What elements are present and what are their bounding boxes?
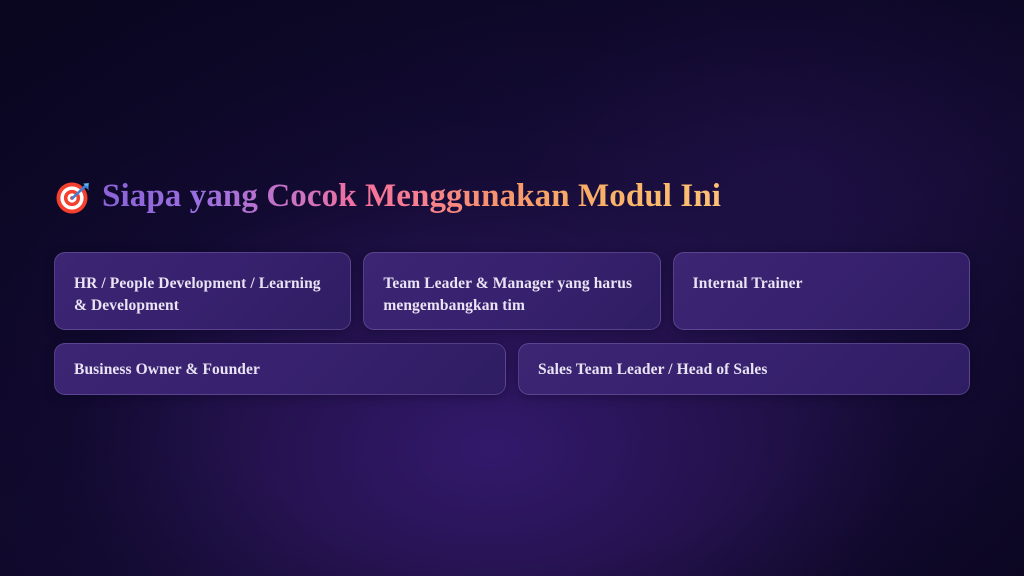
card-row-1: HR / People Development / Learning & Dev…: [54, 252, 970, 330]
slide-content: Siapa yang Cocok Menggunakan Modul Ini H…: [54, 170, 970, 408]
slide: Siapa yang Cocok Menggunakan Modul Ini H…: [0, 0, 1024, 576]
card-row-2: Business Owner & Founder Sales Team Lead…: [54, 343, 970, 395]
audience-card-label: Business Owner & Founder: [74, 359, 487, 381]
audience-card[interactable]: Team Leader & Manager yang harus mengemb…: [363, 252, 660, 330]
target-icon: [54, 178, 92, 216]
slide-title-row: Siapa yang Cocok Menggunakan Modul Ini: [54, 170, 970, 222]
audience-card[interactable]: HR / People Development / Learning & Dev…: [54, 252, 351, 330]
audience-card[interactable]: Business Owner & Founder: [54, 343, 506, 395]
audience-card-label: Team Leader & Manager yang harus mengemb…: [383, 273, 641, 318]
audience-card-label: Internal Trainer: [693, 273, 951, 295]
audience-card-label: HR / People Development / Learning & Dev…: [74, 273, 332, 318]
audience-card[interactable]: Internal Trainer: [673, 252, 970, 330]
page-title: Siapa yang Cocok Menggunakan Modul Ini: [102, 180, 721, 213]
audience-card[interactable]: Sales Team Leader / Head of Sales: [518, 343, 970, 395]
audience-card-label: Sales Team Leader / Head of Sales: [538, 359, 951, 381]
